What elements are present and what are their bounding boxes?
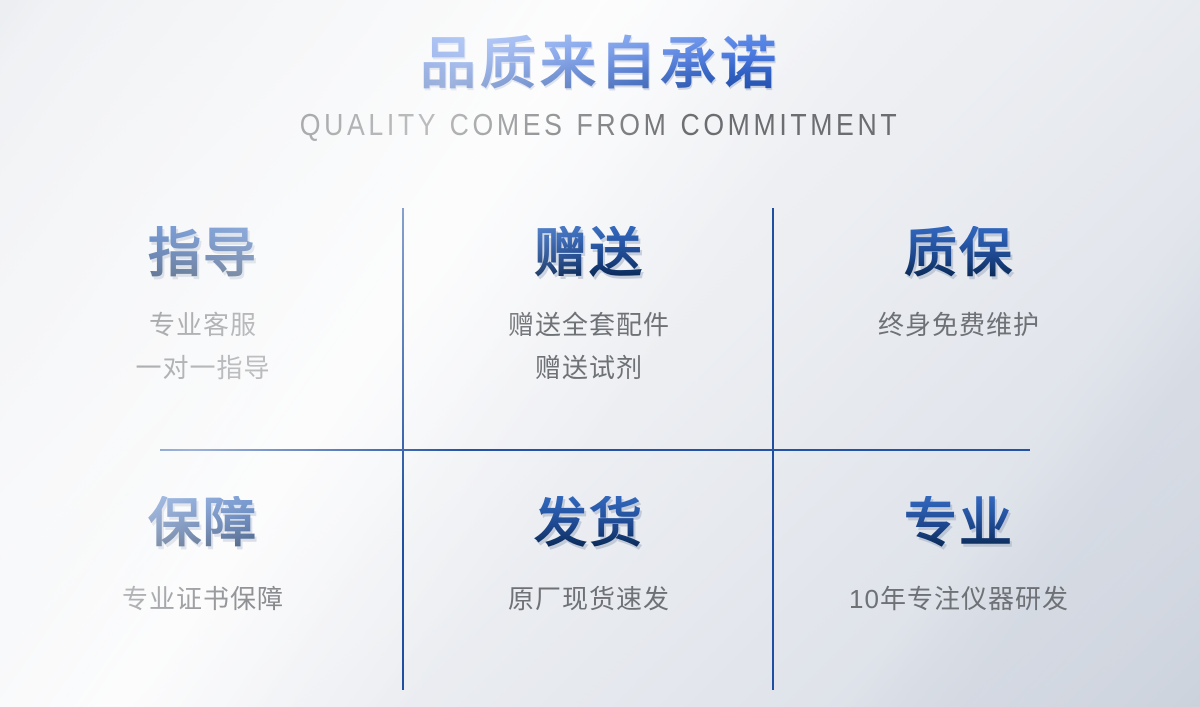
feature-line: 专业客服: [18, 304, 388, 347]
feature-heading: 赠送: [404, 226, 774, 282]
feature-line: 赠送试剂: [404, 347, 774, 390]
feature-description: 专业客服 一对一指导: [18, 304, 388, 390]
page-title: 品质来自承诺: [0, 34, 1200, 93]
feature-line: 赠送全套配件: [404, 304, 774, 347]
feature-line: 10年专注仪器研发: [774, 578, 1144, 621]
feature-heading: 指导: [18, 226, 388, 282]
banner-header: 品质来自承诺 QUALITY COMES FROM COMMITMENT: [0, 34, 1200, 143]
grid-divider-horizontal: [160, 449, 1030, 451]
feature-description: 原厂现货速发: [404, 578, 774, 621]
feature-description: 终身免费维护: [774, 304, 1144, 347]
feature-line: 原厂现货速发: [404, 578, 774, 621]
feature-description: 专业证书保障: [18, 578, 388, 621]
feature-cell-warranty: 质保 终身免费维护: [774, 226, 1144, 347]
promo-banner: 品质来自承诺 QUALITY COMES FROM COMMITMENT 指导 …: [0, 0, 1200, 707]
page-subtitle: QUALITY COMES FROM COMMITMENT: [84, 107, 1116, 143]
feature-cell-shipping: 发货 原厂现货速发: [404, 496, 774, 621]
feature-grid: 指导 专业客服 一对一指导 赠送 赠送全套配件 赠送试剂 质保 终身免费维护 保…: [0, 200, 1200, 700]
feature-heading: 保障: [18, 496, 388, 552]
feature-line: 一对一指导: [18, 347, 388, 390]
feature-heading: 质保: [774, 226, 1144, 282]
feature-heading: 专业: [774, 496, 1144, 552]
feature-line: 专业证书保障: [18, 578, 388, 621]
feature-cell-assurance: 保障 专业证书保障: [18, 496, 388, 621]
feature-cell-gift: 赠送 赠送全套配件 赠送试剂: [404, 226, 774, 389]
feature-cell-guidance: 指导 专业客服 一对一指导: [18, 226, 388, 389]
feature-description: 赠送全套配件 赠送试剂: [404, 304, 774, 390]
feature-description: 10年专注仪器研发: [774, 578, 1144, 621]
feature-heading: 发货: [404, 496, 774, 552]
feature-cell-expertise: 专业 10年专注仪器研发: [774, 496, 1144, 621]
feature-line: 终身免费维护: [774, 304, 1144, 347]
